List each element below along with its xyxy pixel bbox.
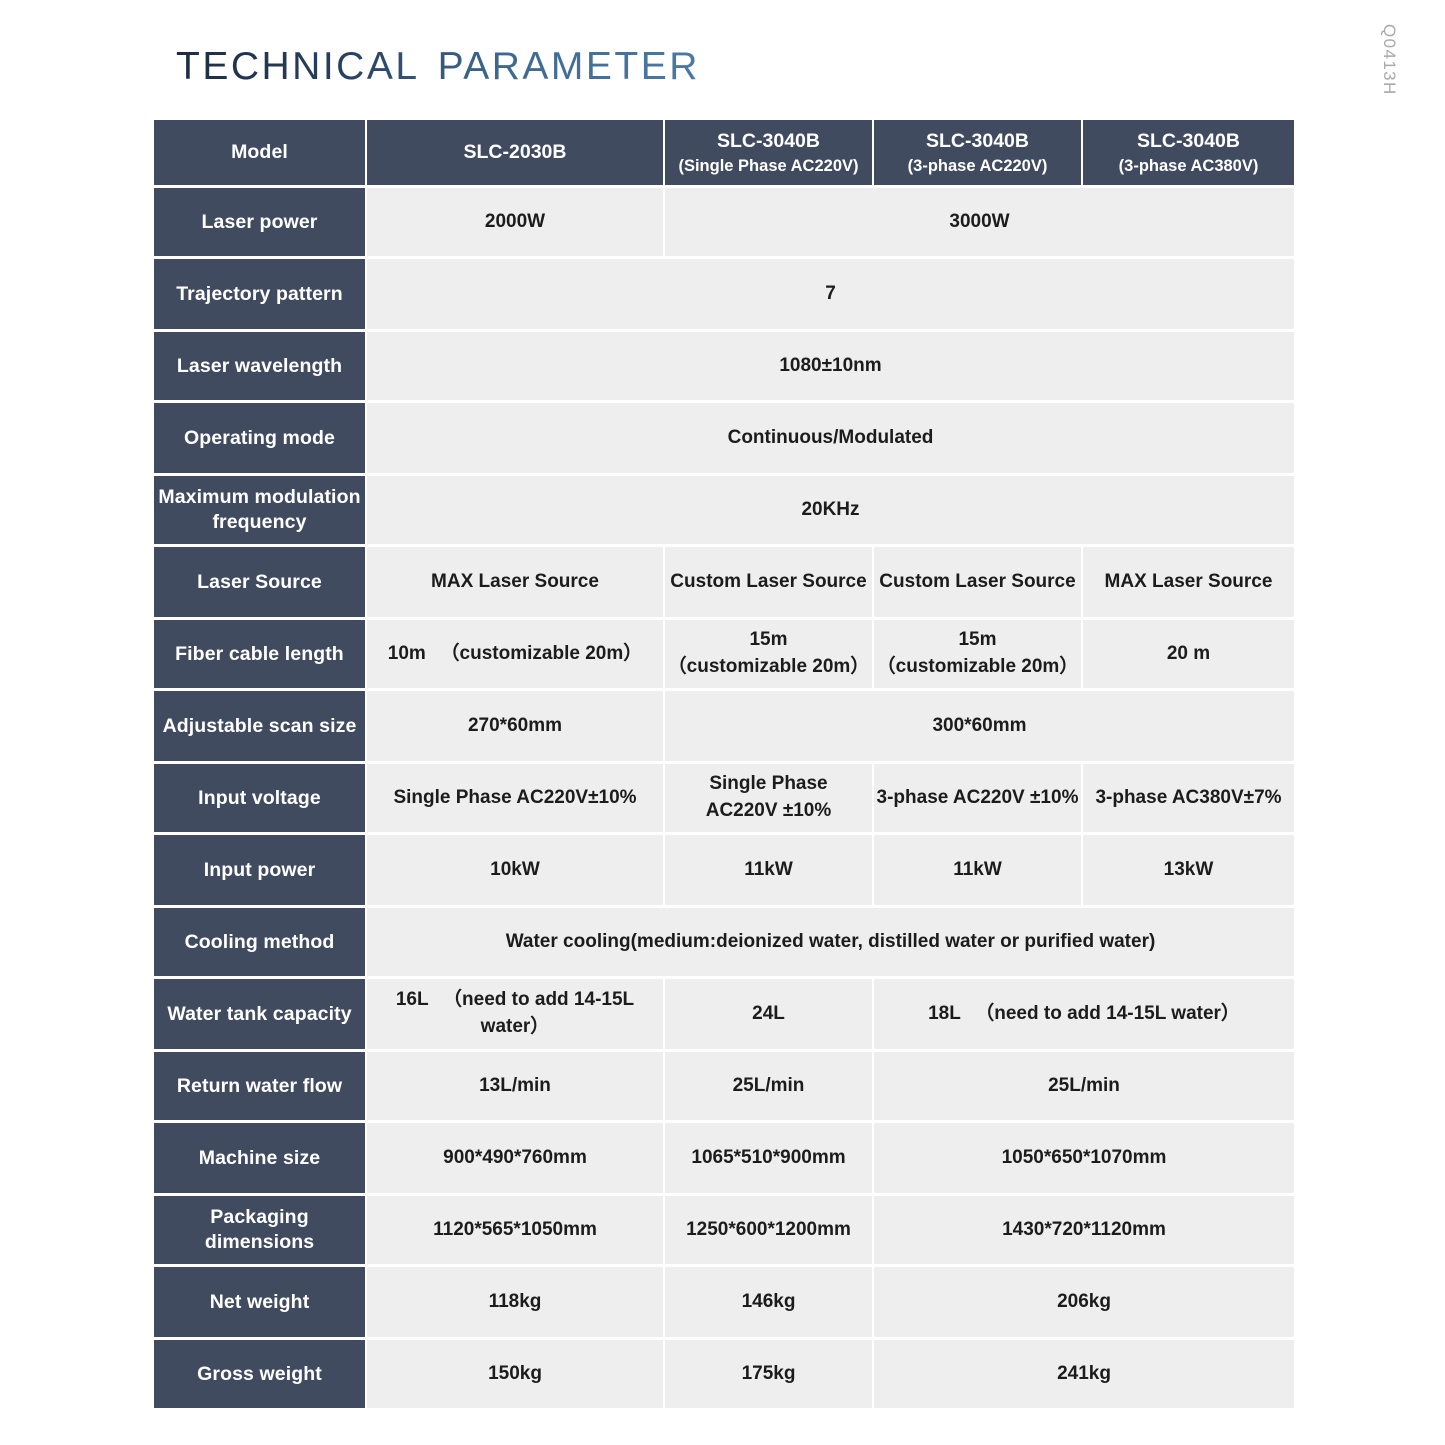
- row-label: Net weight: [154, 1267, 365, 1337]
- table-cell: 1065*510*900mm: [665, 1123, 872, 1193]
- table-cell: Custom Laser Source: [665, 547, 872, 617]
- row-label: Packaging dimensions: [154, 1196, 365, 1264]
- table-row: Operating modeContinuous/Modulated: [154, 403, 1294, 473]
- table-cell: Water cooling(medium:deionized water, di…: [367, 908, 1294, 976]
- table-cell: 25L/min: [874, 1052, 1294, 1120]
- table-row: Laser wavelength1080±10nm: [154, 332, 1294, 400]
- table-row: Trajectory pattern7: [154, 259, 1294, 329]
- table-cell: 175kg: [665, 1340, 872, 1408]
- table-cell: 270*60mm: [367, 691, 663, 761]
- row-label: Water tank capacity: [154, 979, 365, 1049]
- table-row: Laser power2000W3000W: [154, 188, 1294, 256]
- row-label: Laser wavelength: [154, 332, 365, 400]
- technical-parameter-table: ModelSLC-2030BSLC-3040B(Single Phase AC2…: [152, 117, 1296, 1411]
- table-cell: 1080±10nm: [367, 332, 1294, 400]
- column-header-subtitle: (3-phase AC380V): [1083, 155, 1294, 177]
- row-label: Fiber cable length: [154, 620, 365, 688]
- table-cell: 206kg: [874, 1267, 1294, 1337]
- table-row: Machine size900*490*760mm1065*510*900mm1…: [154, 1123, 1294, 1193]
- table-row: Water tank capacity16L （need to add 14-1…: [154, 979, 1294, 1049]
- column-header-subtitle: (Single Phase AC220V): [665, 155, 872, 177]
- table-cell: 18L （need to add 14-15L water）: [874, 979, 1294, 1049]
- table-header-row: ModelSLC-2030BSLC-3040B(Single Phase AC2…: [154, 120, 1294, 185]
- table-cell: 1250*600*1200mm: [665, 1196, 872, 1264]
- table-cell: 3-phase AC220V ±10%: [874, 764, 1081, 832]
- watermark-code: Q0413H: [1379, 24, 1399, 96]
- table-row: Laser SourceMAX Laser SourceCustom Laser…: [154, 547, 1294, 617]
- table-cell: 15m（customizable 20m）: [665, 620, 872, 688]
- column-header-model: SLC-2030B: [464, 141, 567, 163]
- column-header-model: SLC-3040B: [926, 130, 1029, 152]
- column-header-subtitle: (3-phase AC220V): [874, 155, 1081, 177]
- page-title: Technical Parameter: [176, 28, 700, 92]
- table-row: Input voltageSingle Phase AC220V±10%Sing…: [154, 764, 1294, 832]
- table-cell: 25L/min: [665, 1052, 872, 1120]
- row-label: Input power: [154, 835, 365, 905]
- row-label: Adjustable scan size: [154, 691, 365, 761]
- table-cell: 11kW: [874, 835, 1081, 905]
- column-header-2: SLC-3040B(Single Phase AC220V): [665, 120, 872, 185]
- row-label: Maximum modulation frequency: [154, 476, 365, 544]
- row-label: Trajectory pattern: [154, 259, 365, 329]
- row-label: Input voltage: [154, 764, 365, 832]
- cell-line: 15m: [665, 627, 872, 654]
- table-cell: 24L: [665, 979, 872, 1049]
- table-cell: 300*60mm: [665, 691, 1294, 761]
- table-cell: MAX Laser Source: [1083, 547, 1294, 617]
- table-cell: 16L （need to add 14-15L water）: [367, 979, 663, 1049]
- column-header-4: SLC-3040B(3-phase AC380V): [1083, 120, 1294, 185]
- table-row: Gross weight150kg175kg241kg: [154, 1340, 1294, 1408]
- table-cell: 3-phase AC380V±7%: [1083, 764, 1294, 832]
- row-label: Laser Source: [154, 547, 365, 617]
- cell-line: 15m: [874, 627, 1081, 654]
- row-label: Operating mode: [154, 403, 365, 473]
- row-label: Gross weight: [154, 1340, 365, 1408]
- table-row: Packaging dimensions1120*565*1050mm1250*…: [154, 1196, 1294, 1264]
- table-cell: Single Phase AC220V±10%: [367, 764, 663, 832]
- table-row: Net weight118kg146kg206kg: [154, 1267, 1294, 1337]
- table-cell: 118kg: [367, 1267, 663, 1337]
- cell-line: Single Phase: [665, 771, 872, 798]
- table-row: Cooling methodWater cooling(medium:deion…: [154, 908, 1294, 976]
- column-header-model: SLC-3040B: [1137, 130, 1240, 152]
- table-cell: 11kW: [665, 835, 872, 905]
- column-header-model: SLC-3040B: [717, 130, 820, 152]
- table-cell: 2000W: [367, 188, 663, 256]
- table-row: Maximum modulation frequency20KHz: [154, 476, 1294, 544]
- cell-line: AC220V ±10%: [665, 798, 872, 825]
- row-label: Machine size: [154, 1123, 365, 1193]
- row-label: Cooling method: [154, 908, 365, 976]
- table-cell: 10kW: [367, 835, 663, 905]
- table-row: Fiber cable length10m （customizable 20m）…: [154, 620, 1294, 688]
- table-cell: 1430*720*1120mm: [874, 1196, 1294, 1264]
- table-cell: 10m （customizable 20m）: [367, 620, 663, 688]
- table-cell: 3000W: [665, 188, 1294, 256]
- table-cell: 13L/min: [367, 1052, 663, 1120]
- row-label: Return water flow: [154, 1052, 365, 1120]
- cell-line: （customizable 20m）: [874, 654, 1081, 681]
- table-row: Return water flow13L/min25L/min25L/min: [154, 1052, 1294, 1120]
- table-cell: Continuous/Modulated: [367, 403, 1294, 473]
- table-cell: 146kg: [665, 1267, 872, 1337]
- table-cell: MAX Laser Source: [367, 547, 663, 617]
- table-cell: 15m（customizable 20m）: [874, 620, 1081, 688]
- table-cell: 13kW: [1083, 835, 1294, 905]
- table-cell: 150kg: [367, 1340, 663, 1408]
- column-header-1: SLC-2030B: [367, 120, 663, 185]
- table-cell: 7: [367, 259, 1294, 329]
- table-cell: 1120*565*1050mm: [367, 1196, 663, 1264]
- table-cell: 20 m: [1083, 620, 1294, 688]
- table-row: Adjustable scan size270*60mm300*60mm: [154, 691, 1294, 761]
- table-cell: 900*490*760mm: [367, 1123, 663, 1193]
- row-label: Laser power: [154, 188, 365, 256]
- table-cell: 1050*650*1070mm: [874, 1123, 1294, 1193]
- table-cell: 20KHz: [367, 476, 1294, 544]
- table-cell: 241kg: [874, 1340, 1294, 1408]
- column-header-3: SLC-3040B(3-phase AC220V): [874, 120, 1081, 185]
- table-cell: Single PhaseAC220V ±10%: [665, 764, 872, 832]
- table-row: Input power10kW11kW11kW13kW: [154, 835, 1294, 905]
- cell-line: （customizable 20m）: [665, 654, 872, 681]
- header-label-model: Model: [154, 120, 365, 185]
- table-cell: Custom Laser Source: [874, 547, 1081, 617]
